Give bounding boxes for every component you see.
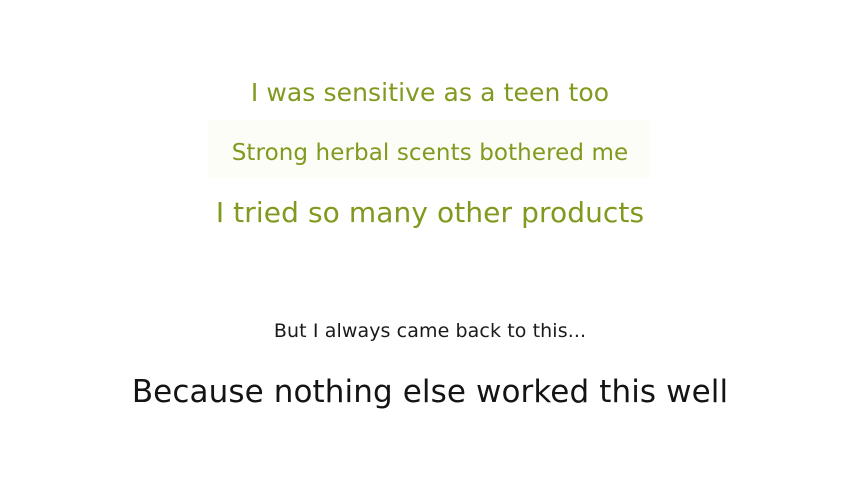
testimonial-line-2: Strong herbal scents bothered me <box>0 138 860 168</box>
slide-canvas: I was sensitive as a teen too Strong her… <box>0 0 860 484</box>
testimonial-line-1: I was sensitive as a teen too <box>0 76 860 109</box>
closing-line-headline: Because nothing else worked this well <box>0 372 860 413</box>
testimonial-line-3: I tried so many other products <box>0 194 860 231</box>
closing-line-transition: But I always came back to this... <box>0 319 860 344</box>
